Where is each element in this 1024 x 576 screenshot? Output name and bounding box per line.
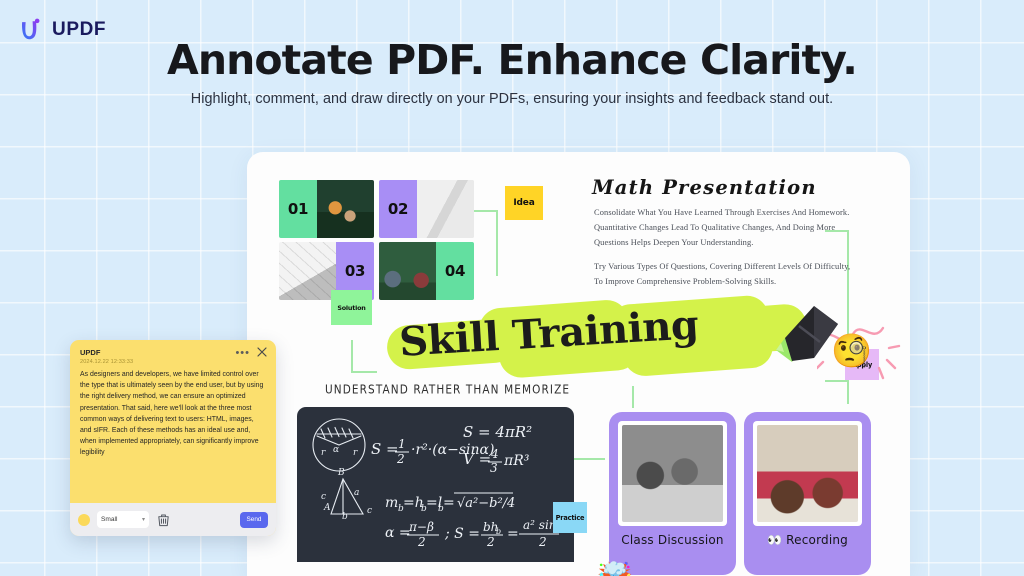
geometry-sketch-photo bbox=[279, 242, 336, 300]
chevron-down-icon: ▾ bbox=[142, 516, 145, 523]
grid-number-04: 04 bbox=[436, 242, 474, 300]
svg-text:π−β: π−β bbox=[408, 520, 434, 534]
svg-text:c: c bbox=[321, 492, 326, 502]
svg-text:A: A bbox=[323, 503, 331, 513]
tag-solution[interactable]: Solution bbox=[331, 290, 372, 325]
svg-text:2: 2 bbox=[396, 452, 405, 466]
tag-practice[interactable]: Practice bbox=[553, 502, 587, 533]
eyes-emoji-icon: 👀 bbox=[767, 533, 782, 547]
svg-text:r: r bbox=[321, 448, 326, 458]
drafting-tools-photo bbox=[417, 180, 474, 238]
svg-text:c: c bbox=[367, 506, 372, 516]
svg-text:B: B bbox=[337, 468, 345, 478]
svg-text:m: m bbox=[385, 495, 398, 511]
photo-card-caption-text: Recording bbox=[786, 533, 848, 547]
photo-card-caption: Class Discussion bbox=[618, 533, 727, 547]
blackboard-formulas: αrr BAc cab S = 12 ·r²·(α−sinα) S = 4πR²… bbox=[297, 407, 574, 562]
svg-text:2: 2 bbox=[538, 535, 547, 549]
trash-icon[interactable] bbox=[156, 512, 171, 527]
svg-text:a: a bbox=[354, 488, 359, 498]
svg-text:πR³: πR³ bbox=[503, 453, 530, 469]
svg-text:α =: α = bbox=[385, 525, 411, 541]
photo-frame bbox=[618, 421, 727, 526]
photo-frame bbox=[753, 421, 862, 526]
document-canvas: 01 02 03 04 Idea Solution Apply Practice… bbox=[247, 152, 910, 576]
page-root: UPDF Annotate PDF. Enhance Clarity. High… bbox=[0, 0, 1024, 576]
handwritten-note: UNDERSTAND RATHER THAN MEMORIZE bbox=[325, 383, 570, 397]
grid-number-02: 02 bbox=[379, 180, 417, 238]
class-discussion-photo bbox=[622, 425, 723, 522]
grid-cell-04[interactable]: 04 bbox=[379, 242, 474, 300]
presentation-title: Math Presentation bbox=[592, 176, 817, 199]
mind-blown-emoji-sticker: 🤯 bbox=[596, 564, 633, 576]
color-swatch-button[interactable] bbox=[78, 514, 90, 526]
connector-line-solution-down bbox=[351, 340, 353, 372]
presentation-paragraph-1: Consolidate What You Have Learned Throug… bbox=[594, 206, 852, 251]
photo-card-caption-text: Class Discussion bbox=[621, 533, 723, 547]
recording-session-photo bbox=[757, 425, 858, 522]
svg-text:S =: S = bbox=[371, 440, 399, 458]
grid-number-01: 01 bbox=[279, 180, 317, 238]
page-title: Annotate PDF. Enhance Clarity. bbox=[0, 36, 1024, 84]
connector-line-solution-right bbox=[351, 371, 377, 373]
svg-text:=: = bbox=[443, 495, 455, 511]
svg-text:4: 4 bbox=[490, 447, 499, 461]
tag-idea[interactable]: Idea bbox=[505, 186, 543, 220]
photo-card-caption: 👀 Recording bbox=[753, 533, 862, 547]
comment-timestamp: 2024.12.22 12:33:33 bbox=[80, 359, 266, 365]
svg-text:3: 3 bbox=[490, 461, 498, 475]
close-icon[interactable] bbox=[257, 347, 267, 357]
comment-header: UPDF 2024.12.22 12:33:33 ••• bbox=[70, 340, 276, 367]
skill-training-heading-group: Skill Training bbox=[387, 300, 807, 380]
comment-toolbar: Small ▾ Send bbox=[70, 503, 276, 536]
page-subtitle: Highlight, comment, and draw directly on… bbox=[0, 91, 1024, 107]
classroom-teacher-photo bbox=[317, 180, 374, 238]
svg-text:2: 2 bbox=[417, 535, 426, 549]
svg-text:r: r bbox=[353, 448, 358, 458]
highlighter-pen-icon bbox=[752, 302, 842, 378]
font-size-value: Small bbox=[101, 516, 118, 523]
grid-cell-02[interactable]: 02 bbox=[379, 180, 474, 238]
font-size-select[interactable]: Small ▾ bbox=[97, 511, 149, 528]
svg-text:1: 1 bbox=[398, 437, 406, 451]
svg-text:2: 2 bbox=[486, 535, 495, 549]
comment-body-text[interactable]: As designers and developers, we have lim… bbox=[70, 367, 276, 503]
send-button[interactable]: Send bbox=[240, 512, 268, 528]
svg-text:b: b bbox=[342, 512, 348, 522]
more-options-icon[interactable]: ••• bbox=[235, 348, 250, 359]
svg-text:; S =: ; S = bbox=[444, 526, 480, 542]
svg-text:√a²−b²/4: √a²−b²/4 bbox=[457, 496, 515, 511]
svg-text:α: α bbox=[333, 445, 339, 455]
comment-sticky-note[interactable]: UPDF 2024.12.22 12:33:33 ••• As designer… bbox=[70, 340, 276, 536]
grid-cell-01[interactable]: 01 bbox=[279, 180, 374, 238]
connector-line-idea-down bbox=[496, 210, 498, 276]
photo-card-recording[interactable]: 👀 Recording bbox=[744, 412, 871, 575]
photo-card-class-discussion[interactable]: Class Discussion bbox=[609, 412, 736, 575]
svg-text:S = 4πR²: S = 4πR² bbox=[463, 423, 532, 441]
presentation-paragraph-2: Try Various Types Of Questions, Covering… bbox=[594, 260, 852, 290]
svg-text:V =: V = bbox=[463, 450, 491, 468]
students-chalkboard-photo bbox=[379, 242, 436, 300]
svg-text:=: = bbox=[507, 526, 519, 542]
connector-line-recording bbox=[632, 386, 634, 408]
